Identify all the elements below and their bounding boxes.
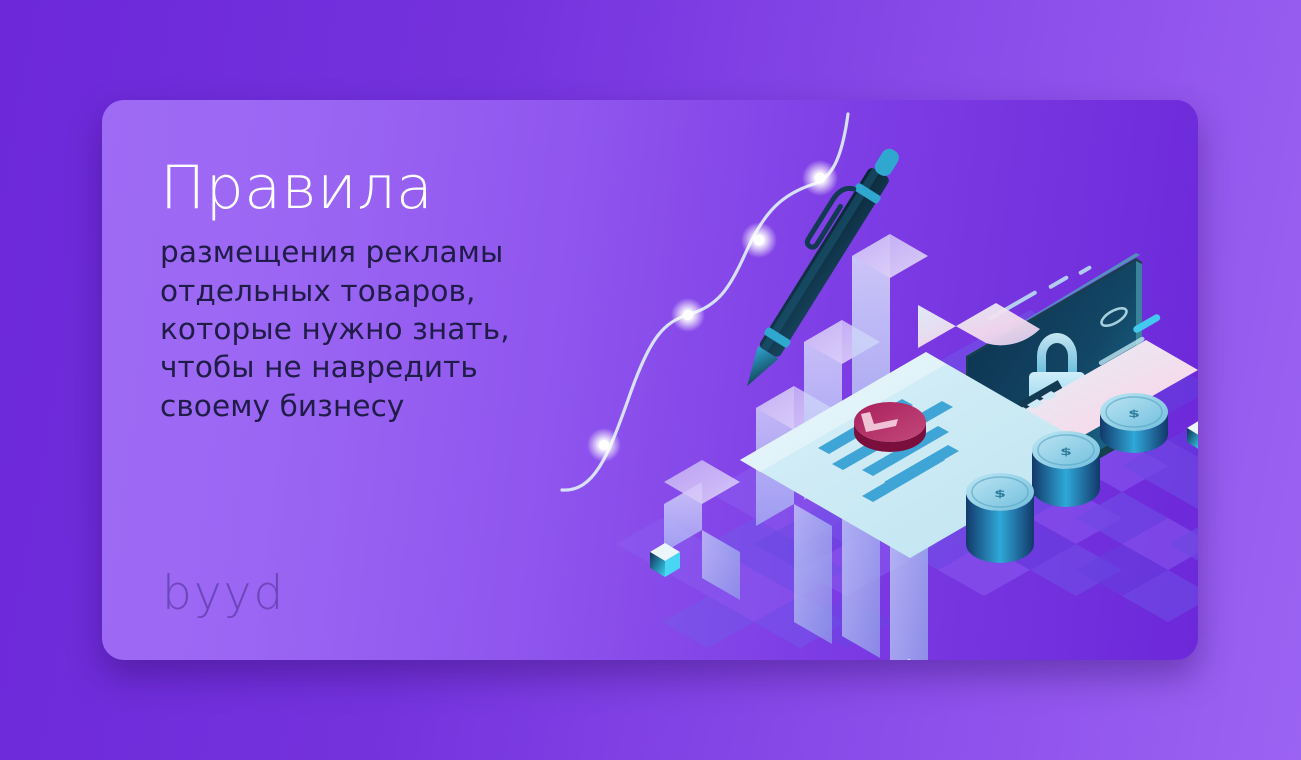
coin-stack-2: $: [1032, 431, 1100, 507]
svg-text:$: $: [1060, 447, 1072, 458]
byyd-logo: byyd: [162, 566, 285, 621]
glow-dot: [671, 298, 705, 332]
glow-dot: [741, 222, 777, 258]
subtitle-line: отдельных товаров,: [160, 272, 600, 310]
page-title: Правила: [160, 158, 600, 219]
subtitle-line: размещения рекламы: [160, 233, 600, 271]
page-subtitle: размещения рекламы отдельных товаров, ко…: [160, 233, 600, 425]
screenshot-stage: $ $: [0, 0, 1301, 760]
banner-card: $ $: [102, 100, 1198, 660]
svg-text:$: $: [1128, 409, 1140, 420]
glow-dot: [587, 428, 621, 462]
coin-stack-1: $: [966, 473, 1034, 563]
illustration-container: $ $: [532, 100, 1198, 660]
glow-dot: [802, 160, 838, 196]
text-block: Правила размещения рекламы отдельных тов…: [160, 158, 600, 425]
svg-text:$: $: [994, 489, 1006, 500]
subtitle-line: которые нужно знать,: [160, 310, 600, 348]
wax-stamp-seal: [854, 402, 926, 452]
subtitle-line: чтобы не навредить: [160, 348, 600, 386]
coin-stack-3: $: [1100, 393, 1168, 453]
subtitle-line: своему бизнесу: [160, 387, 600, 425]
